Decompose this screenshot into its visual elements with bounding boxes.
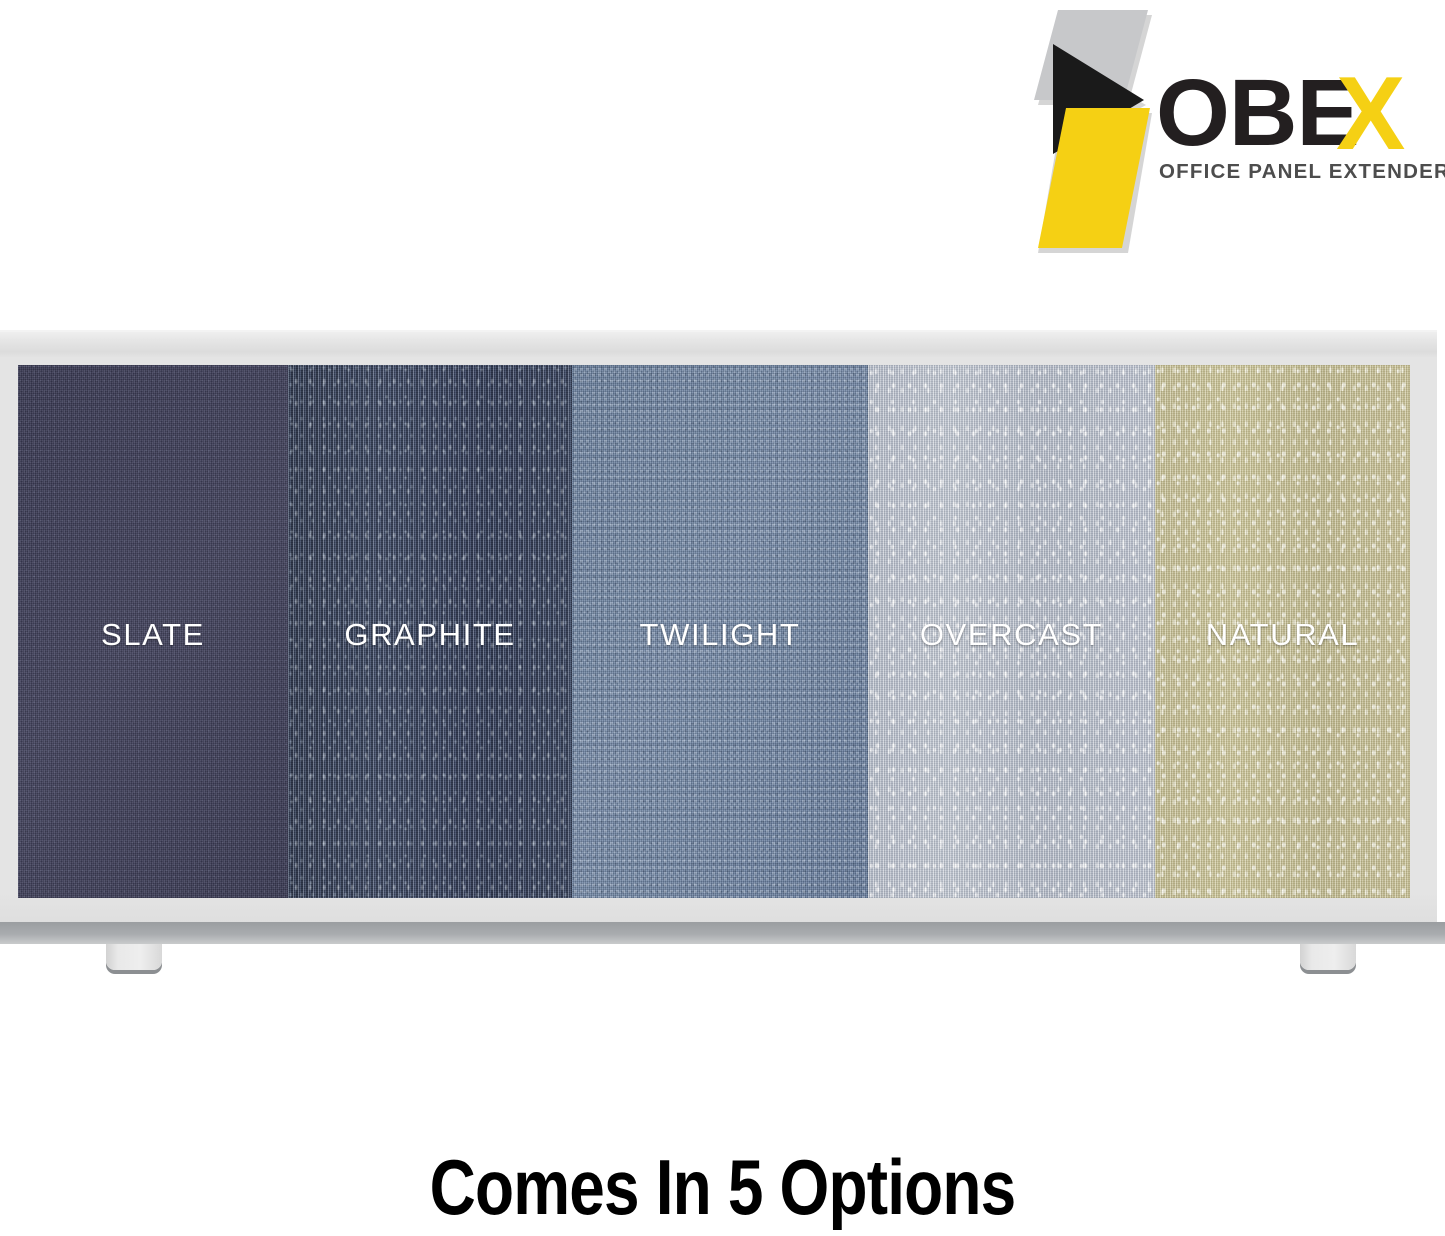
- swatch-twilight[interactable]: TWILIGHT: [572, 365, 868, 898]
- wordmark-obe: OBE: [1156, 66, 1359, 161]
- swatch-label-overcast: OVERCAST: [868, 617, 1155, 653]
- logo-mark-shapes: [1032, 8, 1157, 253]
- panel-extender-product: SLATE GRAPHITE TWILIGHT OVERCAST NATURAL: [0, 330, 1445, 990]
- swatch-slate[interactable]: SLATE: [18, 365, 288, 898]
- swatch-overcast[interactable]: OVERCAST: [868, 365, 1155, 898]
- obex-logo-mark: [1032, 8, 1157, 253]
- swatch-natural[interactable]: NATURAL: [1155, 365, 1410, 898]
- swatch-label-slate: SLATE: [18, 617, 288, 653]
- wordmark-x: X: [1336, 62, 1404, 166]
- brand-tagline: OFFICE PANEL EXTENDERS: [1159, 160, 1445, 184]
- swatch-label-graphite: GRAPHITE: [288, 617, 572, 653]
- obex-logo: OBE X OFFICE PANEL EXTENDERS: [1032, 8, 1432, 253]
- swatch-label-twilight: TWILIGHT: [572, 617, 868, 653]
- panel-frame: SLATE GRAPHITE TWILIGHT OVERCAST NATURAL: [0, 330, 1437, 924]
- obex-wordmark: OBE X OFFICE PANEL EXTENDERS: [1154, 60, 1432, 200]
- panel-base-shadow: [0, 922, 1445, 944]
- fabric-swatch-strip: SLATE GRAPHITE TWILIGHT OVERCAST NATURAL: [18, 365, 1410, 898]
- swatch-graphite[interactable]: GRAPHITE: [288, 365, 572, 898]
- caption-text: Comes In 5 Options: [130, 1142, 1315, 1233]
- swatch-label-natural: NATURAL: [1155, 617, 1410, 653]
